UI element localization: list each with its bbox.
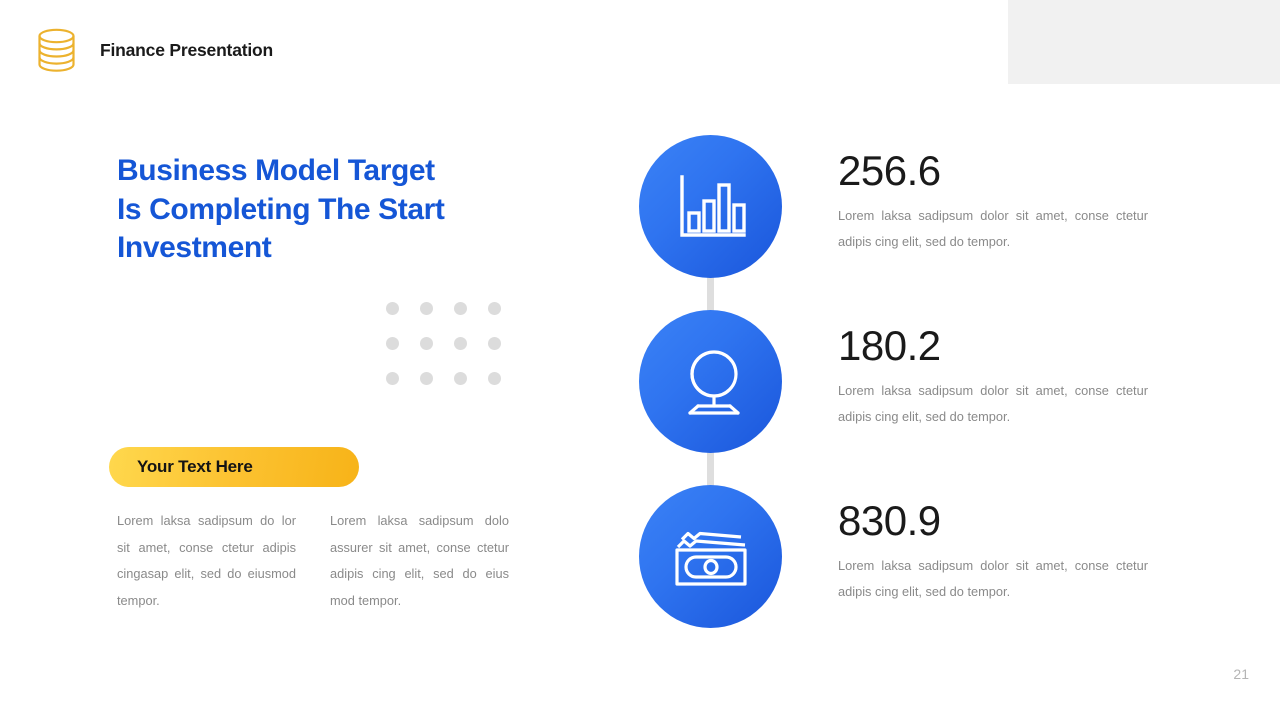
stat-text-3: 830.9 Lorem laksa sadipsum dolor sit ame… [838,485,1148,604]
stat-text-2: 180.2 Lorem laksa sadipsum dolor sit ame… [838,310,1148,429]
grid-dot [420,302,433,315]
brand-header: Finance Presentation [30,26,273,75]
globe-stand-icon [676,347,746,417]
grid-dot [488,337,501,350]
body-column-2: Lorem laksa sadipsum dolo assurer sit am… [330,508,509,614]
grid-dot [454,302,467,315]
stat-icon-circle-2[interactable] [639,310,782,453]
stat-description-2: Lorem laksa sadipsum dolor sit amet, con… [838,378,1148,429]
headline-line-1: Business Model Target [117,152,547,191]
body-column-1: Lorem laksa sadipsum do lor sit amet, co… [117,508,296,614]
grid-dot [488,302,501,315]
stat-item-3: 830.9 Lorem laksa sadipsum dolor sit ame… [639,485,1148,628]
stat-value-2: 180.2 [838,322,1148,370]
grid-dot [420,372,433,385]
grid-dot [386,372,399,385]
body-column-1-text: Lorem laksa sadipsum do lor sit amet, co… [117,508,296,614]
body-text-columns: Lorem laksa sadipsum do lor sit amet, co… [117,508,509,614]
top-right-decor-block [1008,0,1280,84]
coin-stack-icon [30,26,83,75]
grid-dot [488,372,501,385]
grid-dot [454,372,467,385]
stat-description-3: Lorem laksa sadipsum dolor sit amet, con… [838,553,1148,604]
banknotes-icon [673,526,749,588]
grid-dot [454,337,467,350]
badge-label: Your Text Here [137,457,253,477]
stat-value-1: 256.6 [838,147,1148,195]
headline-line-3: Investment [117,229,547,268]
stat-item-2: 180.2 Lorem laksa sadipsum dolor sit ame… [639,310,1148,453]
stat-value-3: 830.9 [838,497,1148,545]
page-number: 21 [1233,666,1249,682]
stat-icon-circle-3[interactable] [639,485,782,628]
dot-grid-decor [386,302,522,407]
headline-line-2: Is Completing The Start [117,191,547,230]
grid-dot [386,337,399,350]
bar-chart-icon [676,173,746,241]
grid-dot [420,337,433,350]
body-column-2-text: Lorem laksa sadipsum dolo assurer sit am… [330,508,509,614]
grid-dot [386,302,399,315]
stat-item-1: 256.6 Lorem laksa sadipsum dolor sit ame… [639,135,1148,278]
stat-text-1: 256.6 Lorem laksa sadipsum dolor sit ame… [838,135,1148,254]
stat-description-1: Lorem laksa sadipsum dolor sit amet, con… [838,203,1148,254]
brand-title: Finance Presentation [100,40,273,61]
stat-icon-circle-1[interactable] [639,135,782,278]
your-text-here-badge[interactable]: Your Text Here [109,447,359,487]
page-title: Business Model Target Is Completing The … [117,152,547,268]
slide: Finance Presentation Business Model Targ… [0,0,1280,720]
